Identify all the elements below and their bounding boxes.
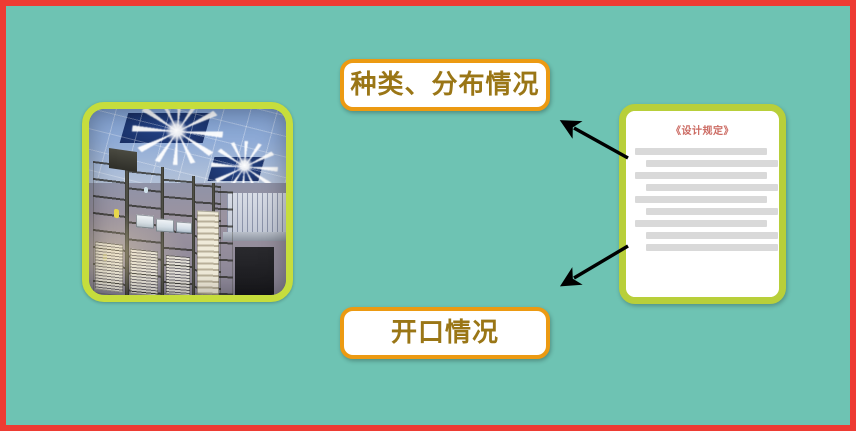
slide-frame: 种类、分布情况 开口情况 《设计规定》 [0, 0, 856, 431]
photo-image [89, 109, 286, 295]
caption-box-openings[interactable]: 开口情况 [340, 307, 550, 359]
document-text-line [635, 172, 767, 179]
document-text-line [635, 148, 767, 155]
document-text-line [646, 232, 778, 239]
caption-bottom-label: 开口情况 [391, 320, 499, 346]
photo-vignette [89, 109, 286, 295]
document-text-line [646, 208, 778, 215]
caption-top-label: 种类、分布情况 [350, 72, 539, 98]
document-body-lines [635, 148, 770, 251]
document-title: 《设计规定》 [635, 127, 770, 137]
design-regulations-document[interactable]: 《设计规定》 [619, 104, 786, 304]
document-page: 《设计规定》 [626, 111, 779, 297]
document-text-line [635, 196, 767, 203]
document-text-line [646, 184, 778, 191]
document-text-line [635, 220, 767, 227]
equipment-room-photo [82, 102, 293, 302]
slide-canvas: 种类、分布情况 开口情况 《设计规定》 [6, 6, 850, 425]
document-text-line [646, 244, 778, 251]
document-text-line [646, 160, 778, 167]
caption-box-types-distribution[interactable]: 种类、分布情况 [340, 59, 550, 111]
